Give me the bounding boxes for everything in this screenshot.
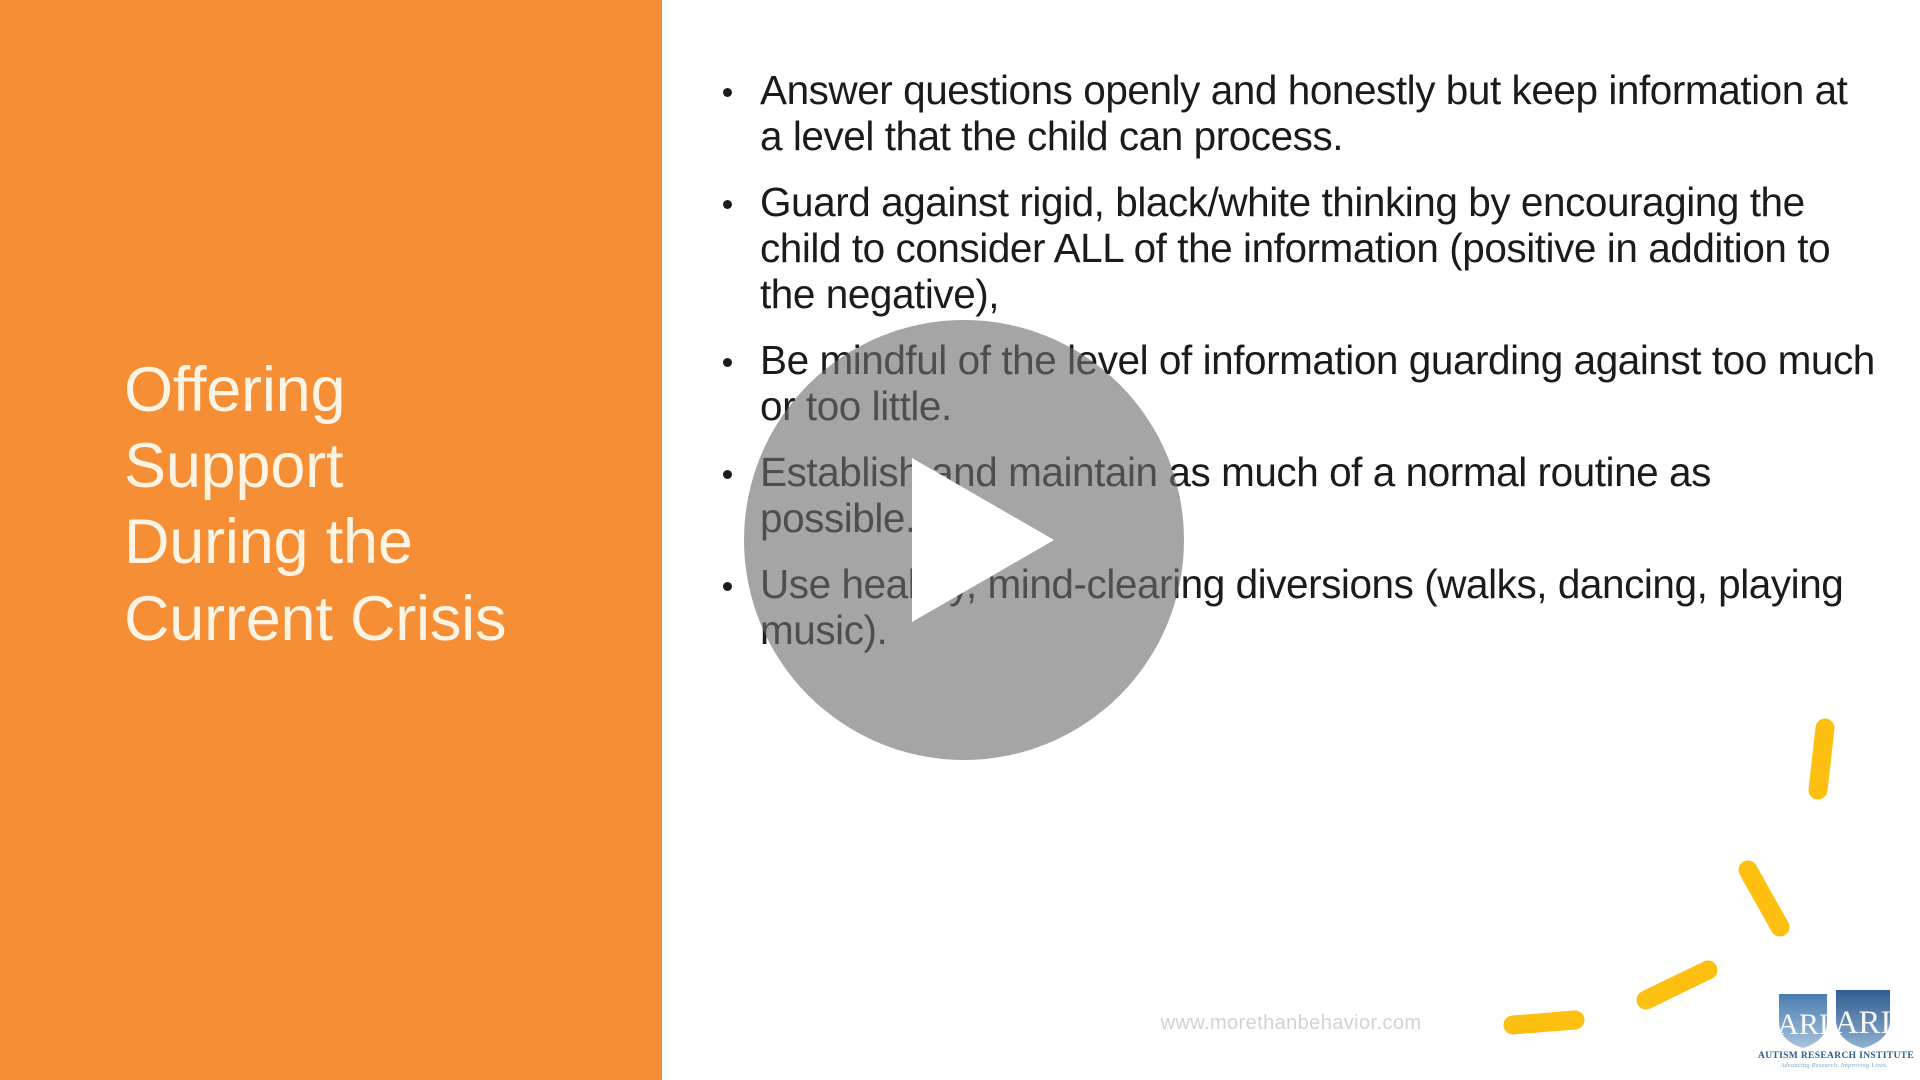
title-panel: Offering Support During the Current Cris… [0,0,662,1080]
ari-logo: ARI ARI AUTISM RESEARCH INSTITUTE Advanc… [1758,988,1910,1076]
slide-title: Offering Support During the Current Cris… [124,352,624,657]
play-icon [912,458,1054,622]
logo-tagline: Advancing Research. Improving Lives. [1758,1062,1910,1069]
play-button[interactable] [744,320,1184,760]
bullet-item: Answer questions openly and honestly but… [717,68,1877,160]
shield-icon: ARI [1833,988,1893,1050]
bullet-item: Guard against rigid, black/white thinkin… [717,180,1877,318]
logo-shields: ARI ARI [1758,988,1910,1050]
footer-website-url: www.morethanbehavior.com [662,1012,1920,1035]
shield-icon: ARI [1776,992,1830,1050]
presentation-slide: Offering Support During the Current Cris… [0,0,1920,1080]
logo-organization-name: AUTISM RESEARCH INSTITUTE [1758,1051,1910,1061]
svg-text:ARI: ARI [1777,1008,1829,1041]
svg-text:ARI: ARI [1834,1005,1891,1041]
